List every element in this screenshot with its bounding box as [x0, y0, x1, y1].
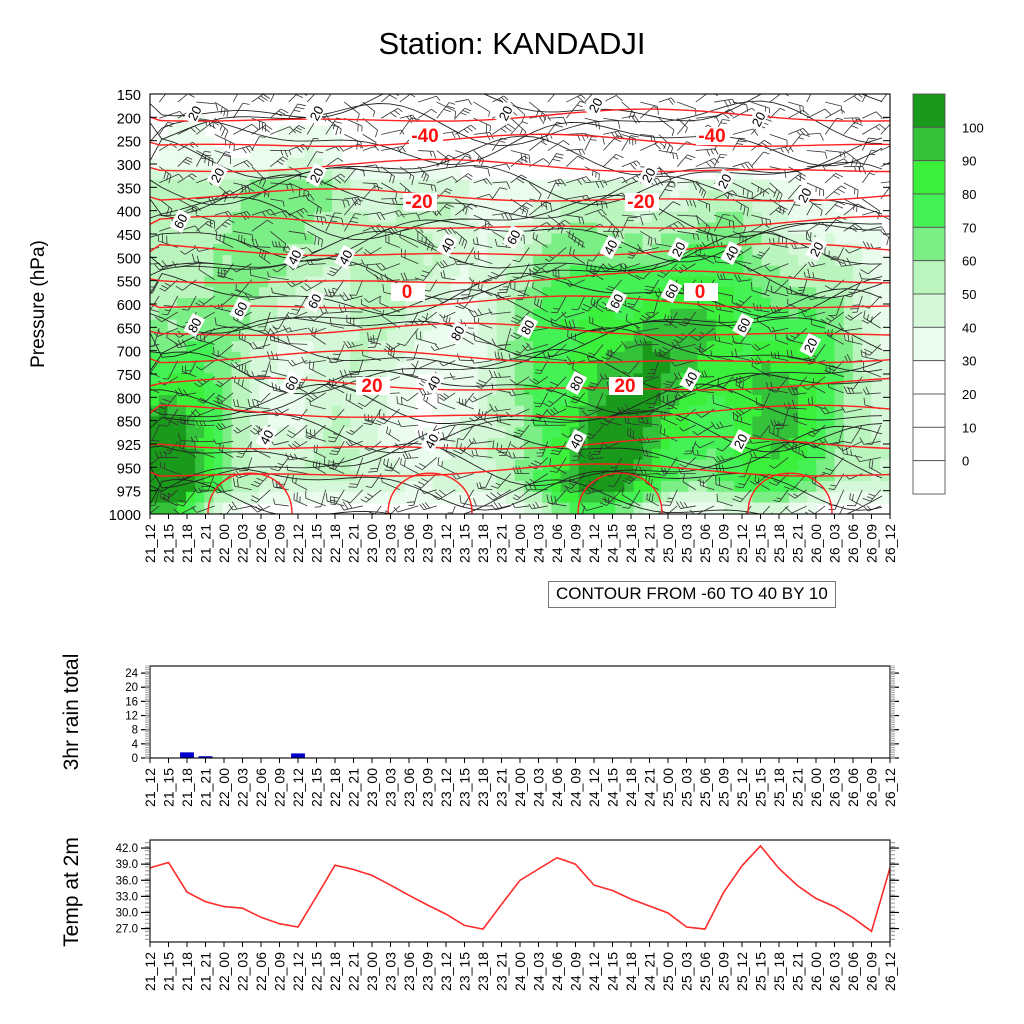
- humidity-colorbar: 1009080706050403020100: [913, 94, 984, 494]
- rain-bar: [291, 753, 305, 758]
- temp-y-axis: 27.030.033.036.039.042.0: [116, 843, 899, 940]
- rain-x-axis: 21_1221_1521_1821_2122_0022_0322_0622_09…: [142, 758, 898, 807]
- temp-axis-label: Temp at 2m: [60, 837, 83, 947]
- rain-axis-label: 3hr rain total: [60, 654, 83, 771]
- temp-panel: 27.030.033.036.039.042.0 21_1221_1521_18…: [0, 828, 1024, 1018]
- rain-bar: [180, 752, 194, 758]
- rain-frame: [150, 666, 890, 758]
- temperature-line: [150, 846, 890, 931]
- contour-range-note: CONTOUR FROM -60 TO 40 BY 10: [548, 581, 836, 608]
- pressure-axis-label: Pressure (hPa): [28, 240, 49, 368]
- page-title: Station: KANDADJI: [0, 26, 1024, 62]
- rain-y-axis: 04812162024: [125, 666, 899, 765]
- rain-panel: 04812162024 21_1221_1521_1821_2122_0022_…: [0, 652, 1024, 842]
- temp-frame: [150, 840, 890, 942]
- time-axis: 21_1221_1521_1821_2122_0022_0322_0622_09…: [142, 514, 898, 563]
- cross-section-panel: -40-40-20-200020202020202020202020202060…: [0, 78, 1024, 698]
- rain-bars: [180, 752, 305, 758]
- temp-x-axis: 21_1221_1521_1821_2122_0022_0322_0622_09…: [142, 942, 898, 991]
